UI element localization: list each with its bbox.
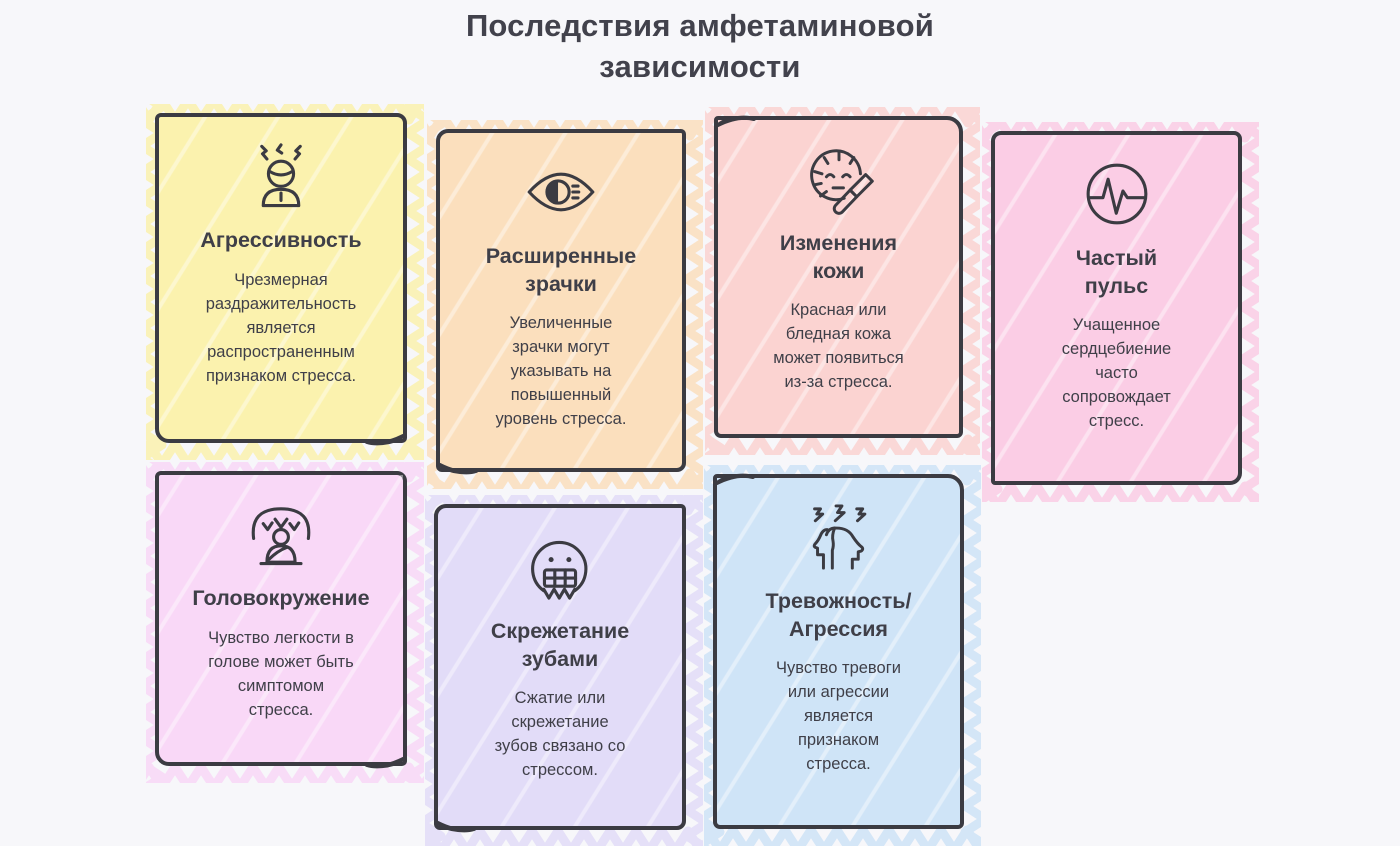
card-title: Частый пульс (1076, 245, 1157, 300)
card-corner-fold (712, 113, 758, 147)
card-title: Тревожность/ Агрессия (766, 588, 912, 643)
card-title: Агрессивность (200, 227, 361, 255)
card-teeth-grinding[interactable]: Скрежетание зубамиСжатие или скрежетание… (434, 504, 686, 830)
angry-person-icon (244, 139, 318, 213)
face-brush-icon (802, 142, 876, 216)
card-title: Расширенные зрачки (486, 243, 637, 298)
two-heads-lightning-icon (802, 500, 876, 574)
card-title: Изменения кожи (780, 230, 897, 285)
card-title: Головокружение (192, 585, 369, 613)
pulse-circle-icon (1080, 157, 1154, 231)
card-description: Учащенное сердцебиение часто сопровождае… (1062, 313, 1171, 433)
card-description: Красная или бледная кожа может появиться… (773, 298, 904, 394)
card-corner-fold (711, 471, 757, 505)
grinding-teeth-icon (523, 530, 597, 604)
card-skin-changes[interactable]: Изменения кожиКрасная или бледная кожа м… (714, 116, 963, 438)
card-description: Чувство легкости в голове может быть сим… (208, 626, 354, 722)
card-corner-fold (363, 735, 409, 769)
card-title: Скрежетание зубами (491, 618, 629, 673)
card-rapid-pulse[interactable]: Частый пульсУчащенное сердцебиение часто… (991, 131, 1242, 485)
card-aggression[interactable]: АгрессивностьЧрезмерная раздражительност… (155, 113, 407, 443)
card-dilated-pupils[interactable]: Расширенные зрачкиУвеличенные зрачки мог… (436, 129, 686, 472)
eye-icon (524, 155, 598, 229)
card-description: Чувство тревоги или агрессии является пр… (776, 656, 901, 776)
card-dizziness[interactable]: ГоловокружениеЧувство легкости в голове … (155, 471, 407, 766)
card-description: Увеличенные зрачки могут указывать на по… (496, 311, 627, 431)
cards-grid: АгрессивностьЧрезмерная раздражительност… (0, 0, 1400, 846)
card-corner-fold (363, 412, 409, 446)
card-description: Чрезмерная раздражительность является ра… (206, 268, 357, 388)
dizzy-person-icon (244, 497, 318, 571)
card-anxiety-aggression[interactable]: Тревожность/ АгрессияЧувство тревоги или… (713, 474, 964, 829)
card-description: Сжатие или скрежетание зубов связано со … (495, 686, 626, 782)
card-corner-fold (434, 441, 480, 475)
card-corner-fold (432, 799, 478, 833)
